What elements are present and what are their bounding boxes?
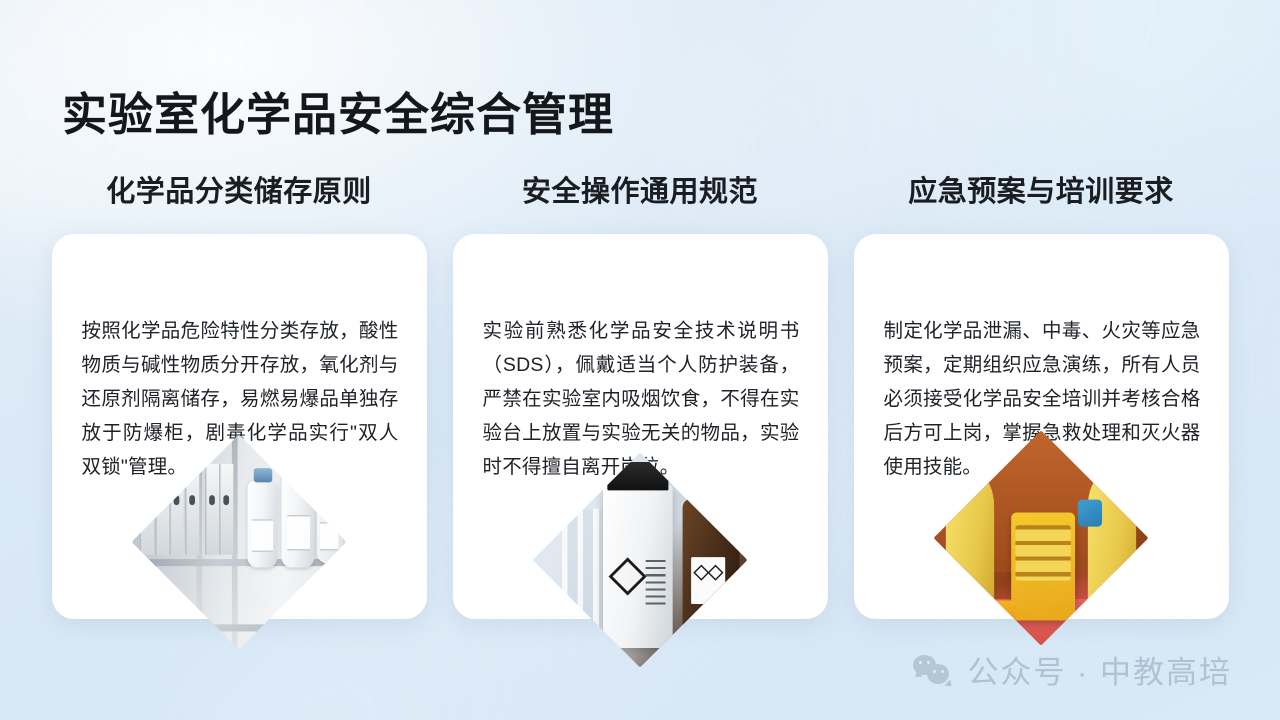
emergency-drill-hazmat-photo — [934, 431, 1149, 646]
watermark: 公众号 · 中教高培 — [913, 647, 1232, 692]
card-heading-2: 安全操作通用规范 — [522, 170, 758, 214]
slide-root: 实验室化学品安全综合管理 化学品分类储存原则 按照化学品危险特性分类存放，酸性物… — [0, 0, 1280, 720]
card-image-wrap-2 — [564, 484, 716, 636]
card-heading-3: 应急预案与培训要求 — [908, 170, 1174, 214]
chemical-storage-cabinet-photo — [132, 435, 347, 650]
card-image-wrap-1 — [163, 466, 315, 618]
card-image-wrap-3 — [965, 462, 1117, 614]
watermark-text: 公众号 · 中教高培 — [967, 647, 1232, 692]
card-1[interactable]: 按照化学品危险特性分类存放，酸性物质与碱性物质分开存放，氧化剂与还原剂隔离储存，… — [52, 234, 427, 619]
card-column-2: 安全操作通用规范 实验前熟悉化学品安全技术说明书（SDS），佩戴适当个人防护装备… — [453, 170, 828, 619]
card-column-3: 应急预案与培训要求 制定化学品泄漏、中毒、火灾等应急预案，定期组织应急演练，所有… — [854, 170, 1229, 619]
cards-container: 化学品分类储存原则 按照化学品危险特性分类存放，酸性物质与碱性物质分开存放，氧化… — [0, 170, 1280, 619]
card-column-1: 化学品分类储存原则 按照化学品危险特性分类存放，酸性物质与碱性物质分开存放，氧化… — [52, 170, 427, 619]
reagent-bottle-ghs-label-photo — [533, 453, 748, 668]
card-2[interactable]: 实验前熟悉化学品安全技术说明书（SDS），佩戴适当个人防护装备，严禁在实验室内吸… — [453, 234, 828, 619]
card-heading-1: 化学品分类储存原则 — [106, 170, 372, 214]
page-title: 实验室化学品安全综合管理 — [62, 88, 614, 141]
card-3[interactable]: 制定化学品泄漏、中毒、火灾等应急预案，定期组织应急演练，所有人员必须接受化学品安… — [854, 234, 1229, 619]
wechat-icon — [913, 653, 953, 687]
